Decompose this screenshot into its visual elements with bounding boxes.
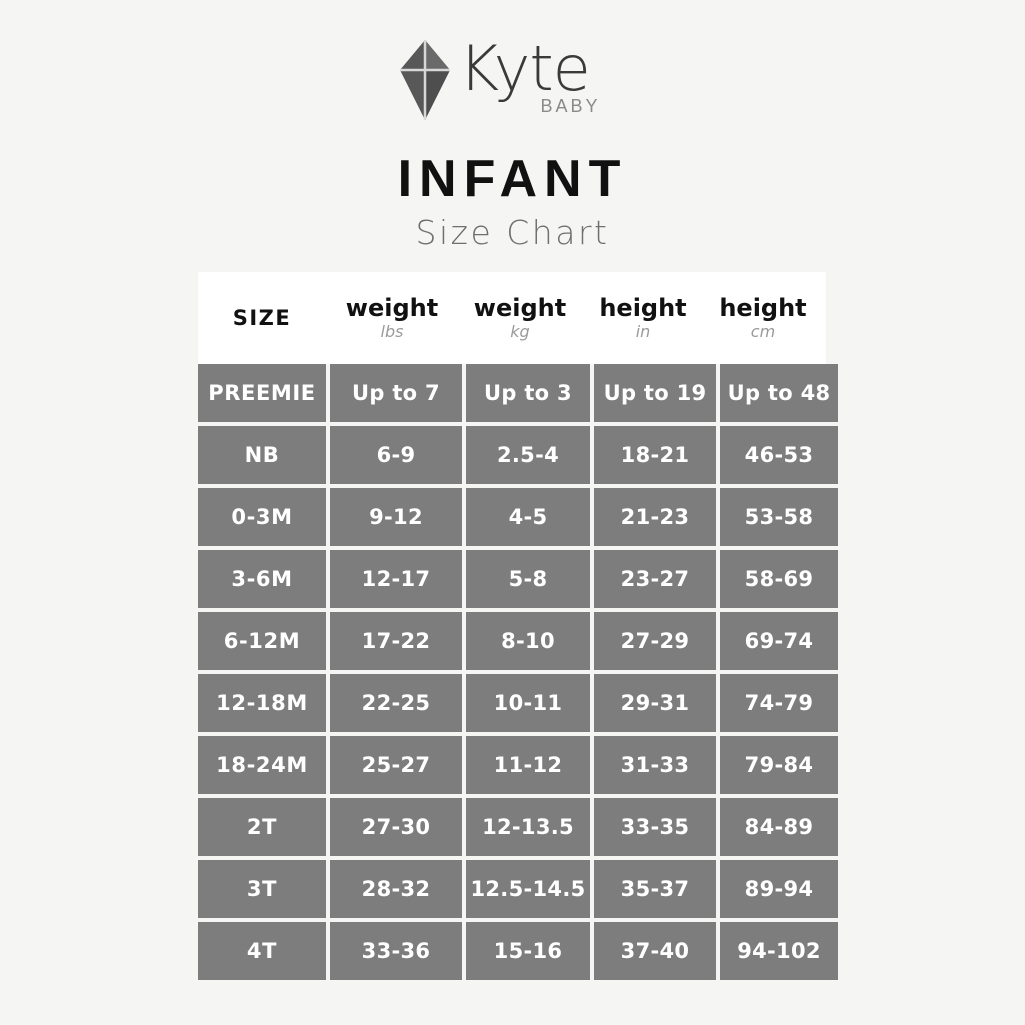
table-cell-value: 25-27 — [330, 736, 462, 794]
table-row: 12-18M22-2510-1129-3174-79 — [198, 674, 826, 732]
table-cell-size: 0-3M — [198, 488, 326, 546]
table-cell-size: 18-24M — [198, 736, 326, 794]
table-cell-value: Up to 19 — [594, 364, 716, 422]
table-cell-value: 12-13.5 — [466, 798, 590, 856]
table-cell-value: 31-33 — [594, 736, 716, 794]
column-header-weight-lbs: weight lbs — [326, 272, 458, 364]
table-cell-size: 2T — [198, 798, 326, 856]
table-cell-value: Up to 7 — [330, 364, 462, 422]
table-cell-value: 37-40 — [594, 922, 716, 980]
table-cell-size: PREEMIE — [198, 364, 326, 422]
table-row: 18-24M25-2711-1231-3379-84 — [198, 736, 826, 794]
column-header-unit: lbs — [381, 323, 404, 341]
table-cell-value: 33-35 — [594, 798, 716, 856]
table-cell-value: 5-8 — [466, 550, 590, 608]
column-header-unit: in — [636, 323, 651, 341]
table-cell-value: 22-25 — [330, 674, 462, 732]
table-cell-value: 8-10 — [466, 612, 590, 670]
table-cell-value: 9-12 — [330, 488, 462, 546]
table-cell-value: 53-58 — [720, 488, 838, 546]
column-header-label: weight — [474, 296, 566, 321]
table-cell-size: 3T — [198, 860, 326, 918]
table-cell-value: 94-102 — [720, 922, 838, 980]
table-body: PREEMIEUp to 7Up to 3Up to 19Up to 48NB6… — [198, 364, 826, 980]
table-cell-value: 21-23 — [594, 488, 716, 546]
table-cell-value: 23-27 — [594, 550, 716, 608]
table-row: NB6-92.5-418-2146-53 — [198, 426, 826, 484]
page-subtitle: Size Chart — [0, 215, 1025, 251]
table-row: 3-6M12-175-823-2758-69 — [198, 550, 826, 608]
brand-name: Kyte — [459, 38, 590, 100]
table-cell-value: 12-17 — [330, 550, 462, 608]
table-cell-value: 29-31 — [594, 674, 716, 732]
table-cell-value: 58-69 — [720, 550, 838, 608]
column-header-label: SIZE — [233, 307, 292, 329]
brand-logo: Kyte BABY — [0, 34, 1025, 126]
table-row: 6-12M17-228-1027-2969-74 — [198, 612, 826, 670]
table-cell-value: 27-30 — [330, 798, 462, 856]
table-cell-value: 89-94 — [720, 860, 838, 918]
table-cell-value: 27-29 — [594, 612, 716, 670]
table-row: PREEMIEUp to 7Up to 3Up to 19Up to 48 — [198, 364, 826, 422]
kite-diamond-icon — [397, 38, 453, 122]
size-chart-table: SIZE weight lbs weight kg height in heig… — [198, 272, 826, 984]
table-cell-value: 10-11 — [466, 674, 590, 732]
column-header-unit: kg — [510, 323, 529, 341]
size-chart-page: Kyte BABY INFANT Size Chart SIZE weight … — [0, 0, 1025, 1025]
table-cell-size: 6-12M — [198, 612, 326, 670]
table-row: 3T28-3212.5-14.535-3789-94 — [198, 860, 826, 918]
title-block: INFANT Size Chart — [0, 152, 1025, 251]
table-cell-value: 79-84 — [720, 736, 838, 794]
table-cell-value: 4-5 — [466, 488, 590, 546]
table-row: 2T27-3012-13.533-3584-89 — [198, 798, 826, 856]
column-header-height-cm: height cm — [704, 272, 822, 364]
table-cell-value: 12.5-14.5 — [466, 860, 590, 918]
brand-tagline: BABY — [541, 96, 601, 117]
table-cell-value: 46-53 — [720, 426, 838, 484]
column-header-weight-kg: weight kg — [458, 272, 582, 364]
table-cell-value: 17-22 — [330, 612, 462, 670]
column-header-label: height — [599, 296, 686, 321]
page-title: INFANT — [0, 152, 1025, 207]
table-cell-size: 4T — [198, 922, 326, 980]
table-header-row: SIZE weight lbs weight kg height in heig… — [198, 272, 826, 364]
column-header-unit: cm — [751, 323, 775, 341]
table-cell-value: 69-74 — [720, 612, 838, 670]
table-cell-value: 84-89 — [720, 798, 838, 856]
table-cell-value: 28-32 — [330, 860, 462, 918]
table-cell-size: NB — [198, 426, 326, 484]
table-cell-value: 15-16 — [466, 922, 590, 980]
table-row: 0-3M9-124-521-2353-58 — [198, 488, 826, 546]
column-header-label: weight — [346, 296, 438, 321]
table-cell-value: 33-36 — [330, 922, 462, 980]
table-cell-value: Up to 48 — [720, 364, 838, 422]
table-cell-size: 12-18M — [198, 674, 326, 732]
table-cell-value: 2.5-4 — [466, 426, 590, 484]
table-cell-value: 18-21 — [594, 426, 716, 484]
table-cell-size: 3-6M — [198, 550, 326, 608]
table-cell-value: Up to 3 — [466, 364, 590, 422]
table-cell-value: 6-9 — [330, 426, 462, 484]
column-header-label: height — [719, 296, 806, 321]
column-header-size: SIZE — [198, 272, 326, 364]
table-cell-value: 11-12 — [466, 736, 590, 794]
column-header-height-in: height in — [582, 272, 704, 364]
table-cell-value: 35-37 — [594, 860, 716, 918]
table-cell-value: 74-79 — [720, 674, 838, 732]
table-row: 4T33-3615-1637-4094-102 — [198, 922, 826, 980]
